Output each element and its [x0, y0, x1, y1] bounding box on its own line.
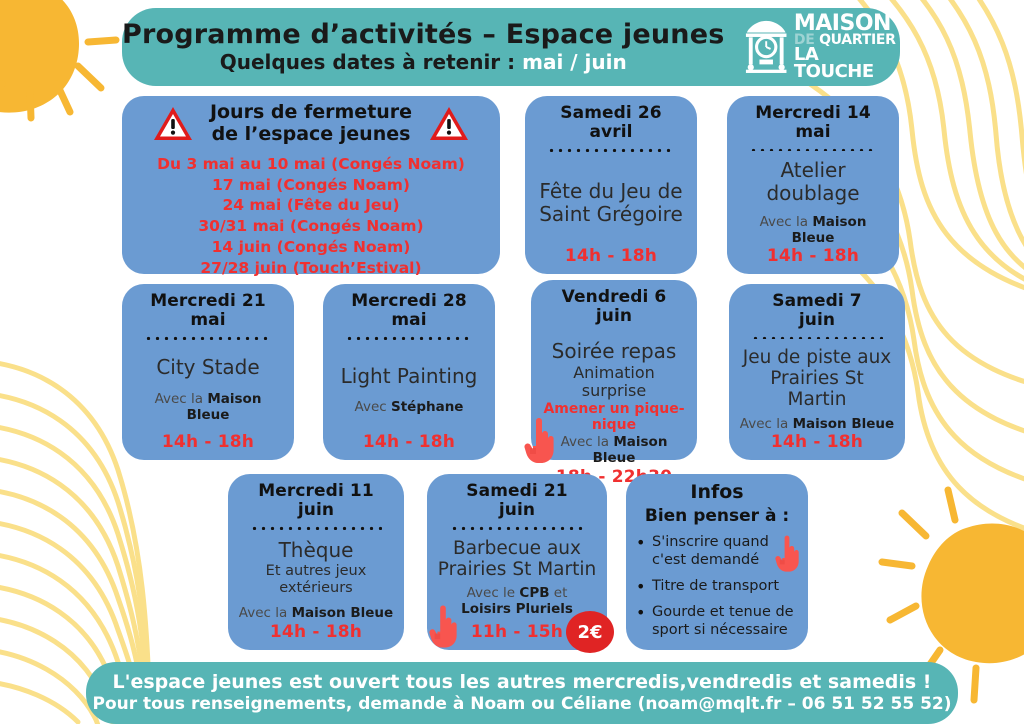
event-date-line2: avril — [589, 123, 632, 142]
list-item: Titre de transport — [636, 578, 800, 595]
footer-contact: (noam@mqlt.fr – 06 51 52 55 52) — [638, 694, 952, 714]
event-title-line1: Thèque — [279, 539, 354, 562]
event-date-line1: Mercredi 21 — [150, 292, 266, 311]
event-with-suffix: et — [550, 585, 568, 601]
event-title-line2: Prairies St Martin — [438, 559, 596, 580]
event-title-line2: Prairies St Martin — [739, 368, 895, 410]
event-date-line2: juin — [499, 501, 535, 520]
card-samedi-26-avril: Samedi 26 avril Fête du Jeu de Saint Gré… — [525, 96, 697, 274]
event-with: Avec la Maison Bleue — [132, 391, 284, 423]
pointing-up-hand-icon — [775, 535, 799, 573]
event-with-prefix: Avec le — [467, 585, 520, 601]
divider-dotted — [751, 336, 882, 338]
event-hours: 14h - 18h — [767, 246, 859, 266]
event-date-line1: Vendredi 6 — [562, 288, 667, 307]
event-date-line1: Mercredi 14 — [755, 104, 871, 123]
event-hours: 14h - 18h — [771, 432, 863, 452]
list-item: 14 juin (Congés Noam) — [212, 238, 411, 258]
event-warning: Amener un pique-nique — [541, 401, 687, 435]
event-subtitle: Et autres jeux extérieurs — [238, 563, 394, 596]
sun-top-left-icon — [0, 0, 116, 118]
page-title: Programme d’activités – Espace jeunes — [122, 21, 724, 49]
event-hours: 14h - 18h — [270, 622, 362, 642]
closure-dates-list: Du 3 mai au 10 mai (Congés Noam) 17 mai … — [157, 155, 465, 279]
event-title-line1: Soirée repas — [552, 340, 677, 363]
logo-line-2-bright: QUARTIER — [819, 32, 896, 48]
event-hours: 11h - 15h — [471, 622, 563, 642]
event-with: Avec la Maison Bleue — [740, 416, 894, 432]
warning-triangle-icon — [428, 105, 470, 143]
card-mercredi-21-mai: Mercredi 21 mai City Stade Avec la Maiso… — [122, 284, 294, 460]
event-with-prefix: Avec la — [155, 391, 208, 407]
event-title-line1: Light Painting — [341, 365, 478, 388]
event-date-line2: juin — [799, 311, 835, 330]
list-item: 27/28 juin (Touch’Estival) — [200, 259, 421, 279]
maison-de-quartier-logo: MAISON DE QUARTIER LA TOUCHE — [744, 14, 900, 80]
event-with-bold: Stéphane — [391, 399, 463, 415]
event-with: Avec Stéphane — [355, 399, 464, 415]
event-title-line2: Saint Grégoire — [539, 203, 683, 226]
event-with-prefix: Avec la — [740, 416, 793, 432]
event-date-line1: Samedi 7 — [772, 292, 862, 311]
event-with-prefix: Avec la — [760, 214, 813, 230]
poster-root: Programme d’activités – Espace jeunes Qu… — [0, 0, 1024, 724]
event-date-line1: Samedi 26 — [560, 104, 661, 123]
footer-line-2-prefix: Pour tous renseignements, demande à Noam… — [92, 694, 637, 714]
event-with-line2: Loisirs Pluriels — [461, 601, 573, 617]
infos-title: Infos — [690, 482, 743, 504]
event-with-prefix: Avec la — [561, 434, 614, 450]
divider-dotted — [144, 336, 272, 340]
price-badge: 2€ — [566, 611, 614, 653]
event-date-line2: juin — [596, 307, 632, 326]
header-banner: Programme d’activités – Espace jeunes Qu… — [122, 8, 900, 86]
card-jours-de-fermeture: Jours de fermeture de l’espace jeunes Du… — [122, 96, 500, 274]
event-date-line2: juin — [298, 501, 334, 520]
divider-dotted — [345, 336, 473, 340]
footer-banner: L'espace jeunes est ouvert tous les autr… — [86, 662, 958, 724]
footer-line-1: L'espace jeunes est ouvert tous les autr… — [113, 671, 932, 695]
event-with-line2-text: Loisirs Pluriels — [461, 601, 573, 617]
event-hours: 14h - 18h — [565, 246, 657, 266]
list-item: 24 mai (Fête du Jeu) — [222, 196, 399, 216]
event-with: Avec le CPB et — [467, 585, 568, 601]
event-with-prefix: Avec la — [239, 605, 292, 621]
logo-line-3: LA TOUCHE — [794, 47, 900, 80]
closure-title-line2: de l’espace jeunes — [210, 124, 412, 146]
closure-title-line1: Jours de fermeture — [210, 102, 412, 124]
card-mercredi-11-juin: Mercredi 11 juin Thèque Et autres jeux e… — [228, 474, 404, 650]
divider-dotted — [547, 148, 675, 152]
card-mercredi-14-mai: Mercredi 14 mai Atelier doublage Avec la… — [727, 96, 899, 274]
clock-tower-icon — [744, 18, 788, 76]
list-item: 17 mai (Congés Noam) — [212, 176, 410, 196]
list-item: 30/31 mai (Congés Noam) — [198, 217, 423, 237]
event-hours: 14h - 18h — [162, 432, 254, 452]
event-title-line1: Fête du Jeu de — [539, 180, 682, 203]
event-with-bold: CPB — [519, 585, 549, 601]
price-badge-label: 2€ — [577, 622, 602, 643]
event-date-line2: mai — [391, 311, 426, 330]
warning-triangle-icon — [152, 105, 194, 143]
footer-line-2: Pour tous renseignements, demande à Noam… — [92, 694, 951, 715]
event-title-line1: Jeu de piste aux — [743, 347, 892, 368]
event-with: Avec la Maison Bleue — [737, 214, 889, 246]
card-vendredi-6-juin: Vendredi 6 juin Soirée repas Animation s… — [531, 280, 697, 460]
event-title-line1: City Stade — [156, 356, 259, 379]
pointing-up-hand-icon — [429, 605, 457, 649]
event-date-line1: Samedi 21 — [466, 482, 567, 501]
event-subtitle: Animation surprise — [541, 364, 687, 401]
closure-title: Jours de fermeture de l’espace jeunes — [210, 102, 412, 146]
pointing-up-hand-icon — [524, 418, 554, 464]
divider-dotted — [450, 526, 584, 530]
event-date-line1: Mercredi 11 — [258, 482, 374, 501]
closure-header: Jours de fermeture de l’espace jeunes — [132, 102, 490, 146]
event-with: Avec la Maison Bleue — [239, 605, 393, 621]
card-mercredi-28-mai: Mercredi 28 mai Light Painting Avec Stép… — [323, 284, 495, 460]
event-date-line2: mai — [190, 311, 225, 330]
event-date-line2: mai — [795, 123, 830, 142]
header-subtitle-highlight: mai / juin — [522, 50, 627, 74]
card-samedi-7-juin: Samedi 7 juin Jeu de piste aux Prairies … — [729, 284, 905, 460]
divider-dotted — [250, 526, 381, 530]
event-with-prefix: Avec — [355, 399, 391, 415]
event-hours: 14h - 18h — [363, 432, 455, 452]
event-with-bold: Maison Bleue — [292, 605, 394, 621]
event-date-line1: Mercredi 28 — [351, 292, 467, 311]
header-subtitle: Quelques dates à retenir : mai / juin — [220, 52, 627, 73]
list-item: Du 3 mai au 10 mai (Congés Noam) — [157, 155, 465, 175]
event-with-bold: Maison Bleue — [793, 416, 895, 432]
event-with: Avec la Maison Bleue — [541, 434, 687, 466]
list-item: Gourde et tenue de sport si nécessaire — [636, 604, 800, 639]
event-title-line1: Barbecue aux — [453, 538, 581, 559]
event-title-line1: Atelier doublage — [737, 159, 889, 205]
logo-line-1: MAISON — [794, 14, 900, 34]
infos-subtitle: Bien penser à : — [645, 506, 789, 526]
header-subtitle-prefix: Quelques dates à retenir : — [220, 50, 515, 74]
divider-dotted — [749, 148, 877, 151]
